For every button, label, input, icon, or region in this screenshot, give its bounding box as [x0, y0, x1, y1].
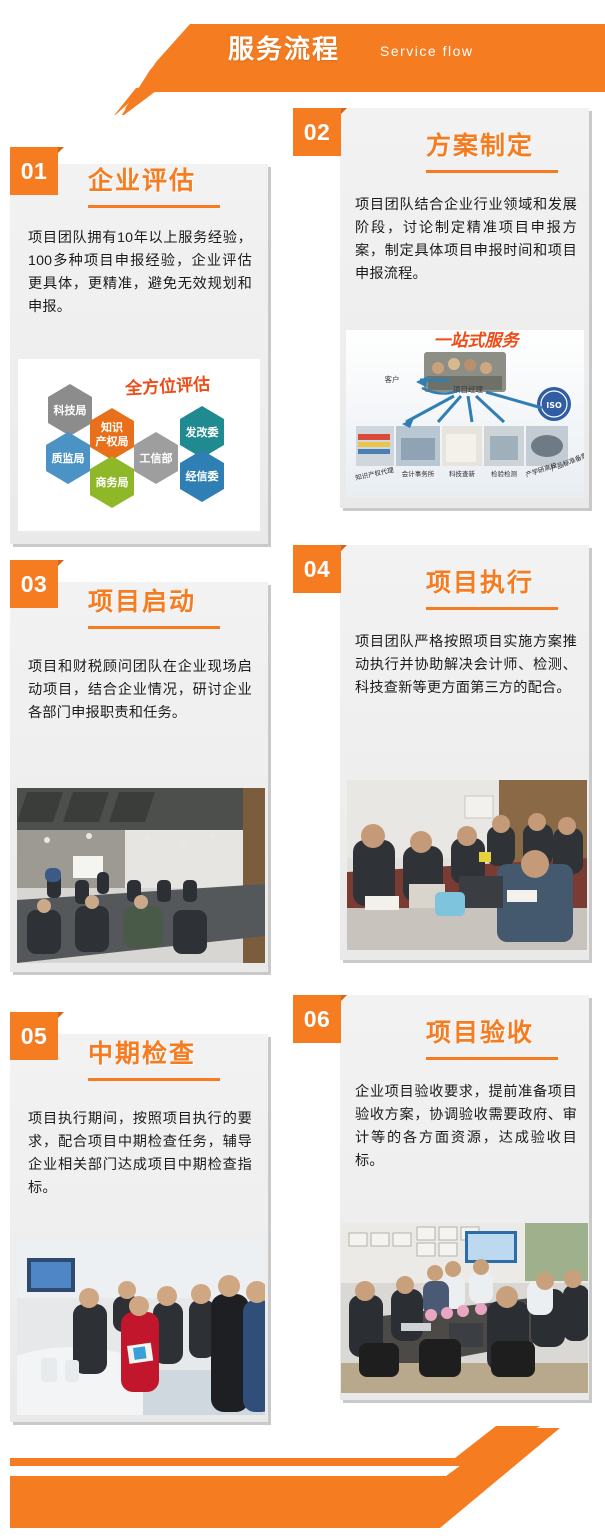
- step-number-badge: 03: [10, 560, 58, 608]
- svg-text:会计事务所: 会计事务所: [402, 469, 435, 478]
- project-execution-photo: [347, 780, 587, 950]
- meeting-room-photo: [17, 788, 265, 963]
- svg-text:产权局: 产权局: [96, 434, 129, 448]
- card-title: 项目验收: [426, 1021, 534, 1046]
- step-number-badge: 02: [293, 108, 341, 156]
- title-underline: [88, 626, 220, 629]
- title-underline: [88, 205, 220, 208]
- page-subtitle: Service flow: [380, 44, 473, 58]
- svg-text:检验检测: 检验检测: [491, 469, 518, 478]
- project-acceptance-photo: [341, 1223, 588, 1393]
- card-description: 项目团队严格按照项目实施方案推动执行并协助解决会计师、检测、科技查新等更方面第三…: [355, 631, 577, 700]
- step-number-badge: 05: [10, 1012, 58, 1060]
- header-banner: 服务流程 Service flow: [0, 0, 605, 110]
- title-underline: [88, 1078, 220, 1081]
- step-number-badge: 01: [10, 147, 58, 195]
- svg-text:ISO: ISO: [546, 401, 562, 410]
- hexagon-evaluation-figure: 科技局 知识产权局 质监局 商务局 工信部 发改委: [18, 359, 260, 531]
- svg-text:商务局: 商务局: [96, 475, 129, 489]
- card-title: 企业评估: [88, 169, 196, 194]
- step-card-04: 04 项目执行 项目团队严格按照项目实施方案推动执行并协助解决会计师、检测、科技…: [293, 545, 596, 975]
- card-description: 项目团队结合企业行业领域和发展阶段，讨论制定精准项目申报方案，制定具体项目申报时…: [355, 194, 577, 286]
- svg-text:一站式服务: 一站式服务: [434, 331, 522, 351]
- step-card-01: 01 企业评估 项目团队拥有10年以上服务经验，100多种项目申报经验，企业评估…: [10, 147, 275, 547]
- svg-text:知识: 知识: [100, 420, 123, 434]
- step-card-02: 02 方案制定 项目团队结合企业行业领域和发展阶段，讨论制定精准项目申报方案，制…: [293, 108, 596, 523]
- step-card-03: 03 项目启动 项目和财税顾问团队在企业现场启动项目，结合企业情况，研讨企业各部…: [10, 560, 275, 975]
- step-card-05: 05 中期检查 项目执行期间，按照项目执行的要求，配合项目中期检查任务，辅导企业…: [10, 1012, 275, 1424]
- page-title: 服务流程: [228, 36, 340, 62]
- card-title: 中期检查: [88, 1042, 196, 1067]
- step-number-badge: 06: [293, 995, 341, 1043]
- card-description: 项目执行期间，按照项目执行的要求，配合项目中期检查任务，辅导企业相关部门达成项目…: [28, 1108, 252, 1200]
- card-description: 项目团队拥有10年以上服务经验，100多种项目申报经验，企业评估更具体，更精准，…: [28, 227, 252, 319]
- svg-text:科技查新: 科技查新: [449, 469, 476, 478]
- svg-text:科技局: 科技局: [54, 403, 87, 417]
- service-flow-poster: 服务流程 Service flow 01 企业评估 项目团队拥有10年以上服务经…: [0, 0, 605, 1538]
- one-stop-service-figure: ISO 客户 项目经理 知识: [346, 330, 584, 498]
- svg-text:客户: 客户: [385, 374, 400, 384]
- card-title: 方案制定: [426, 134, 534, 159]
- title-underline: [426, 170, 558, 173]
- svg-text:项目经理: 项目经理: [453, 384, 483, 394]
- card-description: 项目和财税顾问团队在企业现场启动项目，结合企业情况，研讨企业各部门申报职责和任务…: [28, 656, 252, 725]
- step-number-badge: 04: [293, 545, 341, 593]
- mid-term-inspection-photo: [17, 1240, 265, 1415]
- svg-text:质监局: 质监局: [52, 451, 85, 465]
- title-underline: [426, 1057, 558, 1060]
- card-description: 企业项目验收要求，提前准备项目验收方案，协调验收需要政府、审计等的各方面资源，达…: [355, 1081, 577, 1173]
- card-title: 项目启动: [88, 590, 196, 615]
- card-title: 项目执行: [426, 571, 534, 596]
- svg-text:工信部: 工信部: [140, 451, 173, 465]
- footer-banner: 全国统一热线： 400-150-1560: [0, 1418, 605, 1538]
- svg-text:经信委: 经信委: [186, 469, 220, 483]
- svg-text:发改委: 发改委: [185, 425, 220, 439]
- title-underline: [426, 607, 558, 610]
- step-card-06: 06 项目验收 企业项目验收要求，提前准备项目验收方案，协调验收需要政府、审计等…: [293, 995, 596, 1415]
